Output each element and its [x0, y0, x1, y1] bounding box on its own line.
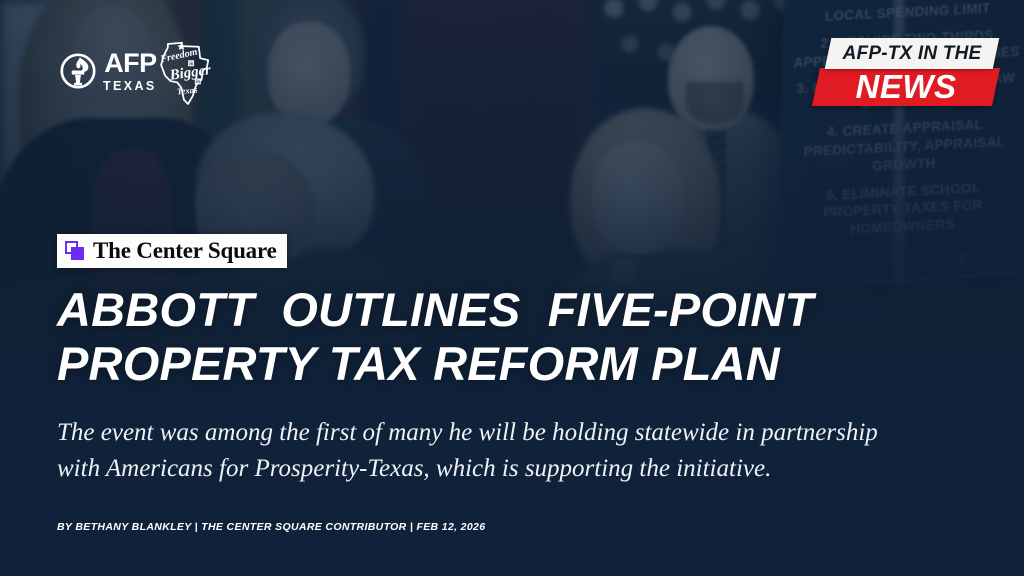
svg-text:is: is [189, 61, 193, 66]
headline-line-1: ABBOTT OUTLINES FIVE-POINT [57, 283, 957, 337]
article-byline: BY BETHANY BLANKLEY | THE CENTER SQUARE … [57, 521, 485, 533]
center-square-wordmark: The Center Square [93, 238, 277, 264]
afp-secondary-text: TEXAS [103, 80, 157, 93]
torch-flame-icon [60, 53, 96, 89]
news-flag-top-label: AFP-TX IN THE [828, 38, 996, 69]
afp-tx-in-the-news-flag: NEWS AFP-TX IN THE [816, 38, 998, 106]
svg-text:in: in [196, 79, 200, 84]
afp-primary-text: AFP [104, 50, 157, 77]
overlay-content: AFP TEXAS Freedom Bigger Texas is [0, 0, 1024, 576]
afp-texas-logo: AFP TEXAS [60, 50, 157, 93]
news-graphic-card: LOCAL SPENDING LIMIT 2. REQUIRE TWO-THIR… [0, 0, 1024, 576]
headline-line-2: PROPERTY TAX REFORM PLAN [57, 337, 957, 391]
square-front-shape [71, 247, 84, 260]
overlapping-squares-icon [65, 241, 85, 261]
news-flag-bottom-label: NEWS [816, 68, 996, 106]
svg-text:Texas: Texas [176, 84, 198, 96]
page-title: ABBOTT OUTLINES FIVE-POINT PROPERTY TAX … [57, 283, 957, 390]
center-square-logo: The Center Square [57, 234, 287, 268]
news-flag-bottom-banner: NEWS [812, 68, 1000, 106]
freedom-is-bigger-in-texas-badge: Freedom Bigger Texas is in [150, 38, 218, 108]
news-flag-top-banner: AFP-TX IN THE [825, 38, 1000, 69]
afp-wordmark: AFP TEXAS [103, 50, 157, 93]
article-subheadline: The event was among the first of many he… [57, 415, 927, 486]
